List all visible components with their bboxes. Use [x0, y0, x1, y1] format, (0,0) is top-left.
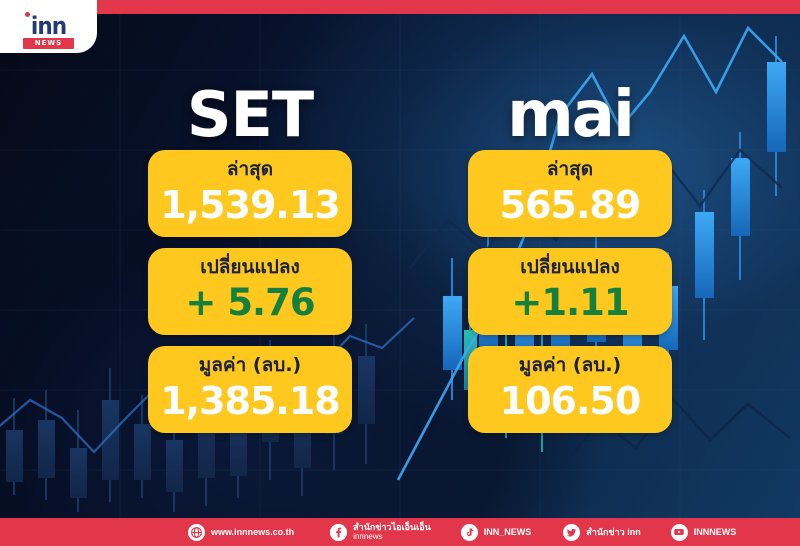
stat-value: 1,385.18 [152, 378, 348, 424]
footer-youtube[interactable]: INNNEWS [671, 518, 737, 546]
logo-i-dot-icon [25, 12, 30, 17]
index-column-mai: mai ล่าสุด 565.89 เปลี่ยนแปลง +1.11 มูลค… [468, 80, 672, 444]
stat-label: ล่าสุด [152, 156, 348, 182]
footer-tiktok[interactable]: INN_NEWS [461, 518, 532, 546]
facebook-icon [330, 524, 347, 541]
footer-facebook-line1: สำนักข่าวไอเอ็นเอ็น [353, 522, 431, 532]
footer-facebook[interactable]: สำนักข่าวไอเอ็นเอ็น innnews [330, 518, 431, 546]
stat-card-mai-value: มูลค่า (ลบ.) 106.50 [468, 346, 672, 433]
twitter-icon [563, 524, 580, 541]
stat-label: เปลี่ยนแปลง [152, 254, 348, 280]
stat-value: 106.50 [472, 378, 668, 424]
tiktok-icon [461, 524, 478, 541]
stat-value: +1.11 [472, 280, 668, 326]
footer-website-text: www.innnews.co.th [211, 527, 294, 537]
stat-value: 1,539.13 [152, 182, 348, 228]
stat-card-set-latest: ล่าสุด 1,539.13 [148, 150, 352, 237]
top-red-band [0, 0, 800, 14]
stat-label: เปลี่ยนแปลง [472, 254, 668, 280]
logo-mark: inn [18, 15, 80, 37]
youtube-icon [671, 524, 688, 541]
infographic-canvas: inn NEWS SET ล่าสุด 1,539.13 เปลี่ยนแปลง… [0, 0, 800, 546]
globe-icon [188, 524, 205, 541]
stat-value: + 5.76 [152, 280, 348, 326]
footer-youtube-text: INNNEWS [694, 527, 737, 537]
logo-wordmark: inn [18, 15, 80, 37]
index-column-set: SET ล่าสุด 1,539.13 เปลี่ยนแปลง + 5.76 ม… [148, 80, 352, 444]
background-stock-chart [0, 0, 800, 546]
index-title-mai: mai [468, 80, 672, 150]
stat-label: มูลค่า (ลบ.) [152, 352, 348, 378]
footer-facebook-text: สำนักข่าวไอเอ็นเอ็น innnews [353, 522, 431, 542]
stat-card-mai-latest: ล่าสุด 565.89 [468, 150, 672, 237]
index-title-set: SET [148, 80, 352, 150]
stat-card-mai-change: เปลี่ยนแปลง +1.11 [468, 248, 672, 335]
stat-value: 565.89 [472, 182, 668, 228]
footer-twitter-text: สำนักข่าว inn [586, 527, 640, 537]
footer-website[interactable]: www.innnews.co.th [188, 518, 294, 546]
inn-news-logo: inn NEWS [0, 0, 97, 53]
footer-facebook-line2: innnews [353, 532, 431, 542]
footer-social-bar: www.innnews.co.th สำนักข่าวไอเอ็นเอ็น in… [0, 518, 800, 546]
footer-tiktok-text: INN_NEWS [484, 527, 532, 537]
footer-twitter[interactable]: สำนักข่าว inn [563, 518, 640, 546]
stat-label: ล่าสุด [472, 156, 668, 182]
stat-card-set-value: มูลค่า (ลบ.) 1,385.18 [148, 346, 352, 433]
stat-label: มูลค่า (ลบ.) [472, 352, 668, 378]
stat-card-set-change: เปลี่ยนแปลง + 5.76 [148, 248, 352, 335]
